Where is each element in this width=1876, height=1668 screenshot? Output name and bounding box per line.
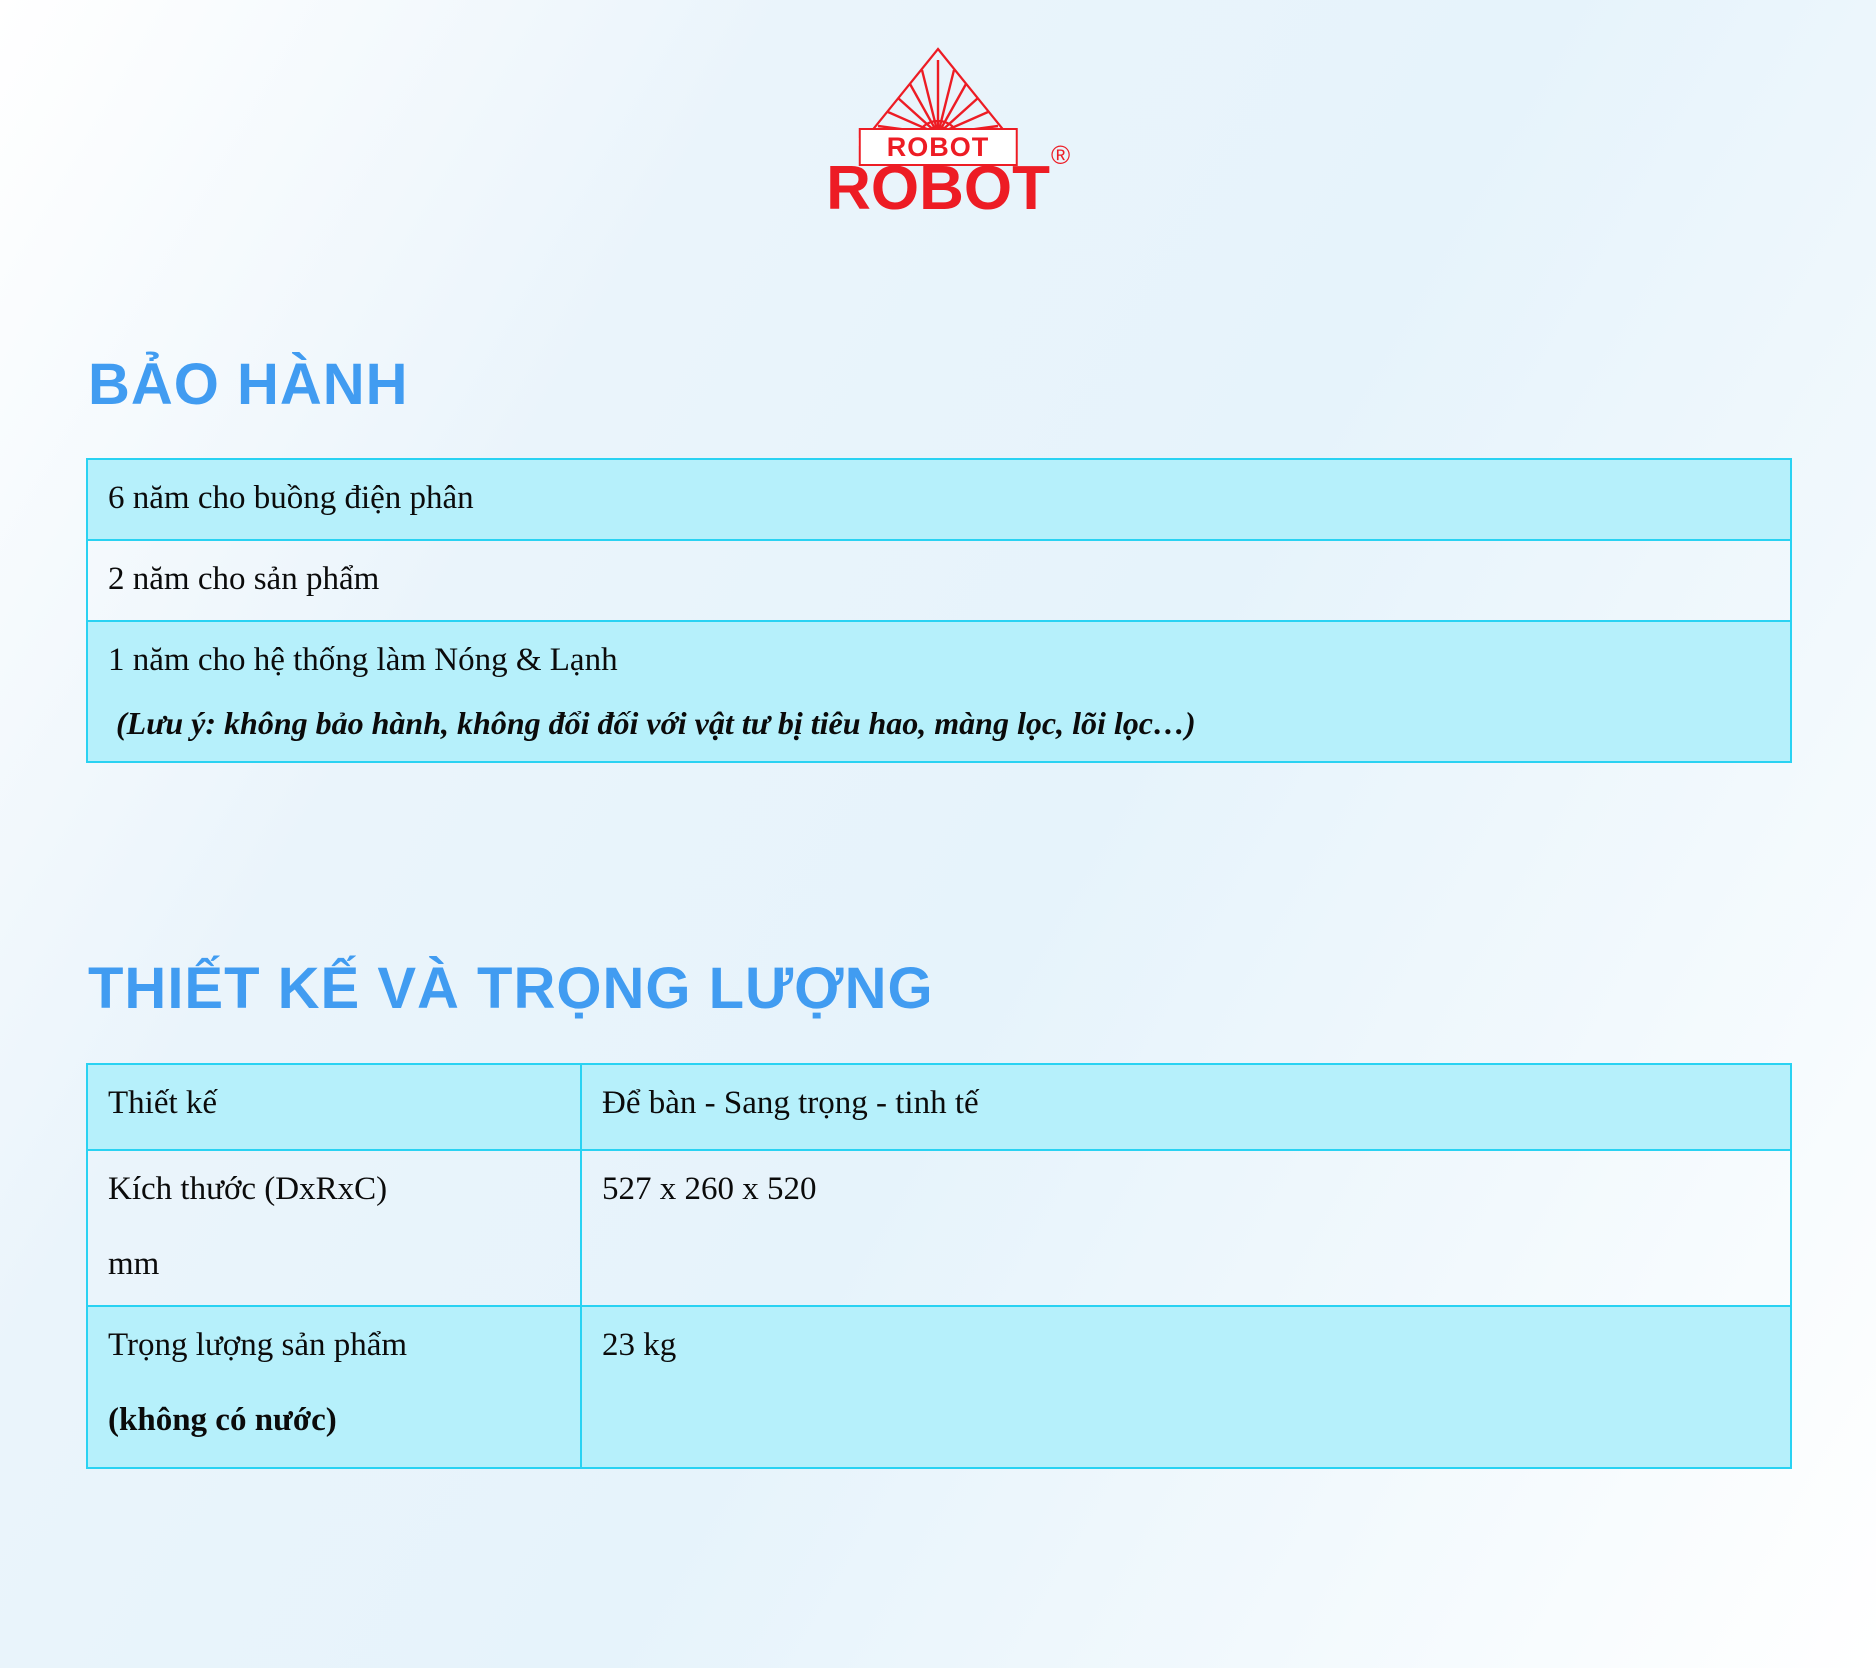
brand-logo: ROBOT ROBOT ® <box>0 46 1876 196</box>
design-weight-label-line1: Trọng lượng sản phẩm <box>108 1327 407 1363</box>
registered-trademark-icon: ® <box>1051 140 1070 171</box>
design-label-style: Thiết kế <box>88 1065 582 1149</box>
warranty-note: (Lưu ý: không bảo hành, không đổi đối vớ… <box>108 701 1772 745</box>
design-weight-label-note: (không có nước) <box>108 1396 562 1445</box>
warranty-table: 6 năm cho buồng điện phân 2 năm cho sản … <box>86 458 1792 763</box>
design-value-dimensions: 527 x 260 x 520 <box>582 1151 1790 1305</box>
warranty-cell-electrolysis: 6 năm cho buồng điện phân <box>88 460 1790 539</box>
table-row: 2 năm cho sản phẩm <box>88 541 1790 622</box>
design-label-weight: Trọng lượng sản phẩm (không có nước) <box>88 1307 582 1467</box>
design-dimensions-unit: mm <box>108 1240 562 1289</box>
section-heading-design: THIẾT KẾ VÀ TRỌNG LƯỢNG <box>88 955 934 1022</box>
section-heading-warranty: BẢO HÀNH <box>88 351 409 418</box>
design-value-style: Để bàn - Sang trọng - tinh tế <box>582 1065 1790 1149</box>
warranty-cell-product: 2 năm cho sản phẩm <box>88 541 1790 620</box>
design-dimensions-label-line1: Kích thước (DxRxC) <box>108 1171 387 1207</box>
table-row: Kích thước (DxRxC) mm 527 x 260 x 520 <box>88 1151 1790 1307</box>
table-row: Thiết kế Để bàn - Sang trọng - tinh tế <box>88 1065 1790 1151</box>
design-value-weight: 23 kg <box>582 1307 1790 1467</box>
design-label-dimensions: Kích thước (DxRxC) mm <box>88 1151 582 1305</box>
design-table: Thiết kế Để bàn - Sang trọng - tinh tế K… <box>86 1063 1792 1469</box>
warranty-cell-hotcold: 1 năm cho hệ thống làm Nóng & Lạnh (Lưu … <box>88 622 1790 761</box>
page-root: ROBOT ROBOT ® BẢO HÀNH 6 năm cho buồng đ… <box>0 0 1876 1668</box>
logo-wordmark: ROBOT <box>826 158 1050 220</box>
table-row: Trọng lượng sản phẩm (không có nước) 23 … <box>88 1307 1790 1467</box>
table-row: 1 năm cho hệ thống làm Nóng & Lạnh (Lưu … <box>88 622 1790 761</box>
warranty-hotcold-text: 1 năm cho hệ thống làm Nóng & Lạnh <box>108 642 618 678</box>
table-row: 6 năm cho buồng điện phân <box>88 460 1790 541</box>
